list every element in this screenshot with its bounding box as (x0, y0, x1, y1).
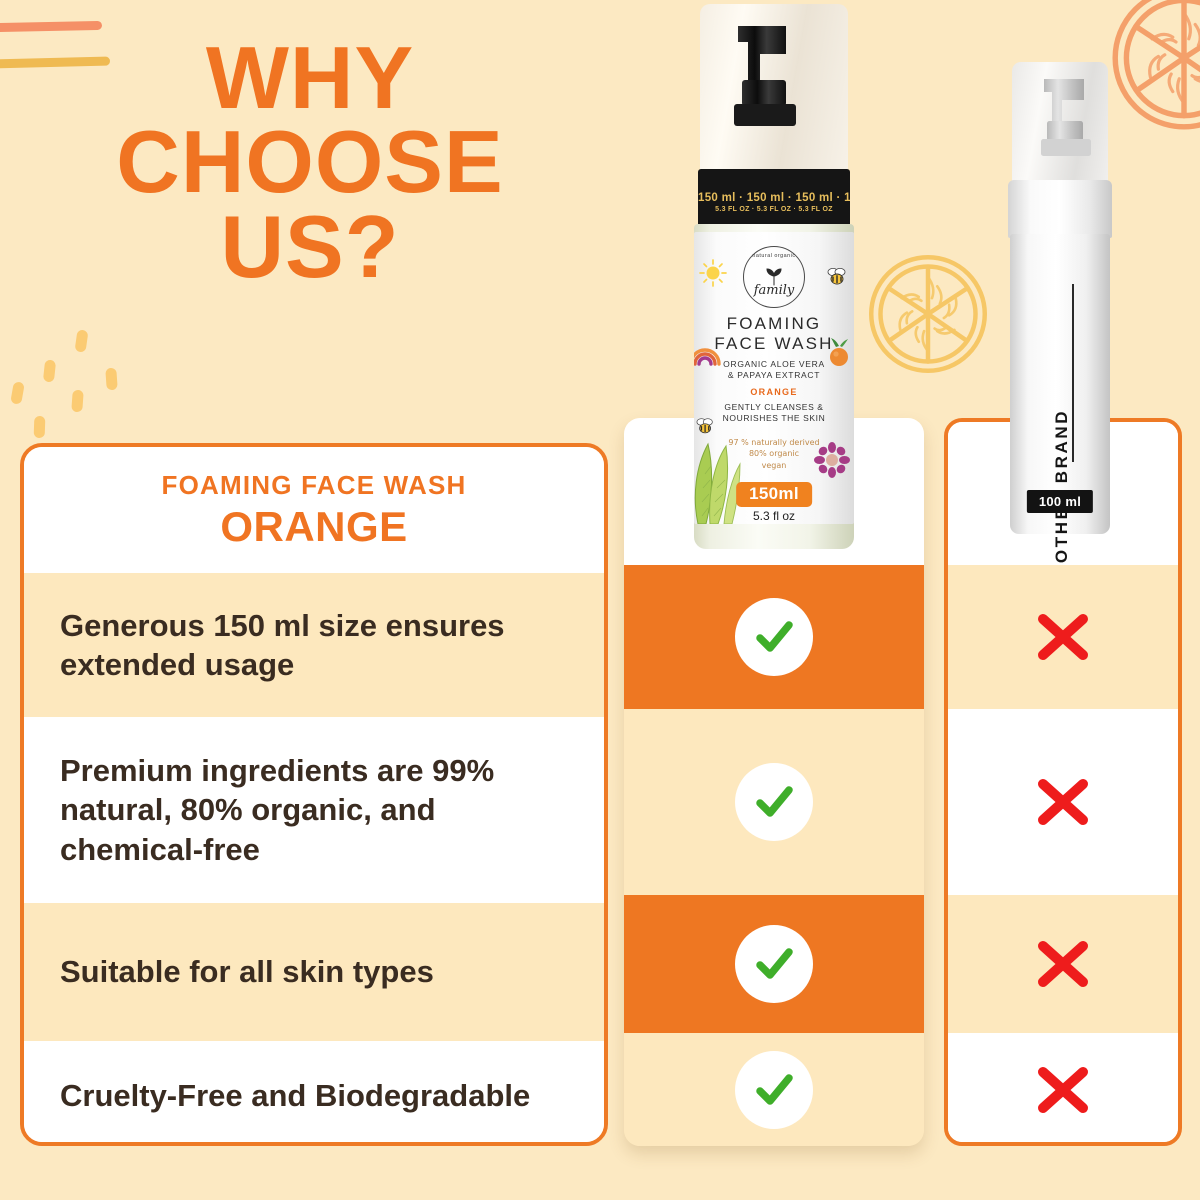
our-product-bottle-image: 150 ml · 150 ml · 150 ml · 150 ml 5.3 FL… (678, 4, 870, 549)
bottle-band-floz-text: 5.3 FL OZ · 5.3 FL OZ · 5.3 FL OZ (698, 206, 850, 213)
bee-icon (827, 268, 849, 286)
bottle-volume-band: 150 ml · 150 ml · 150 ml · 150 ml 5.3 FL… (698, 184, 850, 220)
label-fine-line-3: vegan (762, 461, 787, 470)
cross-badge (1031, 770, 1095, 834)
other-bottle-size-badge: 100 ml (1027, 490, 1093, 513)
feature-row: Generous 150 ml size ensures extended us… (24, 573, 604, 717)
feature-row: Cruelty-Free and Biodegradable (24, 1041, 604, 1146)
label-fine-line-2: 80% organic (749, 449, 799, 458)
product-variant-label: ORANGE (220, 503, 407, 551)
check-badge (735, 925, 813, 1003)
other-bottle-body: OTHER BRAND 100 ml (1010, 234, 1110, 534)
sun-icon (698, 258, 728, 288)
title-line-3: US? (0, 205, 620, 289)
other-bottle-collar (1008, 180, 1112, 238)
feature-list-card: FOAMING FACE WASH ORANGE Generous 150 ml… (20, 443, 608, 1146)
our-check-cell (624, 895, 924, 1033)
check-icon (750, 613, 798, 661)
check-icon (750, 778, 798, 826)
other-brand-name: OTHER BRAND (1052, 386, 1072, 586)
label-variant: ORANGE (694, 387, 854, 397)
label-claim-line-2: NOURISHES THE SKIN (723, 413, 826, 423)
cross-icon (1031, 1058, 1095, 1122)
brand-logo-word: family (744, 283, 804, 298)
cross-icon (1031, 770, 1095, 834)
label-title-line-2: FACE WASH (714, 334, 833, 353)
bottle-pump-icon (726, 20, 808, 128)
cross-badge (1031, 932, 1095, 996)
label-claim-line-1: GENTLY CLEANSES & (724, 402, 823, 412)
yellow-dot-cluster-icon (14, 328, 144, 448)
our-check-cell (624, 709, 924, 895)
cross-icon (1031, 605, 1095, 669)
other-brand-bottle-image: OTHER BRAND 100 ml (998, 62, 1128, 536)
feature-row: Premium ingredients are 99% natural, 80%… (24, 717, 604, 903)
feature-text: Suitable for all skin types (60, 952, 434, 991)
check-badge (735, 1051, 813, 1129)
check-badge (735, 598, 813, 676)
label-title-line-1: FOAMING (727, 314, 822, 333)
bottle-label: natural organic family FOAMING FACE WASH… (694, 232, 854, 524)
label-ingredients: ORGANIC ALOE VERA & PAPAYA EXTRACT (694, 359, 854, 381)
other-cross-cell (948, 565, 1178, 709)
orange-slice-middle-icon (862, 248, 994, 380)
label-ingredients-line-2: & PAPAYA EXTRACT (728, 370, 820, 380)
coral-brush-stroke-icon (0, 21, 102, 32)
feature-text: Generous 150 ml size ensures extended us… (60, 606, 568, 684)
other-cross-cell (948, 709, 1178, 895)
product-name-header: FOAMING FACE WASH ORANGE (24, 447, 604, 573)
bottle-band-volume-text: 150 ml · 150 ml · 150 ml · 150 ml (698, 192, 850, 204)
label-floz-text: 5.3 fl oz (694, 509, 854, 523)
title-line-1: WHY (0, 36, 620, 120)
brand-logo-arch-text: natural organic (744, 253, 804, 259)
label-fine-line-1: 97 % naturally derived (728, 438, 819, 447)
label-claim: GENTLY CLEANSES & NOURISHES THE SKIN (694, 402, 854, 424)
page-title: WHY CHOOSE US? (0, 36, 620, 289)
our-check-cell (624, 1033, 924, 1146)
check-badge (735, 763, 813, 841)
other-cross-cell (948, 1033, 1178, 1146)
cross-icon (1031, 932, 1095, 996)
brand-logo: natural organic family (743, 246, 805, 308)
label-ingredients-line-1: ORGANIC ALOE VERA (723, 359, 825, 369)
cross-badge (1031, 1058, 1095, 1122)
our-check-cell (624, 565, 924, 709)
feature-row: Suitable for all skin types (24, 903, 604, 1041)
other-bottle-divider-line (1072, 284, 1074, 462)
other-cross-cell (948, 895, 1178, 1033)
label-size-badge: 150ml (736, 482, 812, 507)
cross-badge (1031, 605, 1095, 669)
feature-text: Cruelty-Free and Biodegradable (60, 1076, 530, 1115)
feature-text: Premium ingredients are 99% natural, 80%… (60, 751, 568, 868)
product-category-label: FOAMING FACE WASH (162, 470, 467, 501)
title-line-2: CHOOSE (0, 120, 620, 204)
other-bottle-pump-icon (1034, 74, 1100, 158)
label-fine-print: 97 % naturally derived 80% organic vegan (694, 437, 854, 471)
check-icon (750, 1066, 798, 1114)
check-icon (750, 940, 798, 988)
label-product-title: FOAMING FACE WASH (694, 314, 854, 353)
